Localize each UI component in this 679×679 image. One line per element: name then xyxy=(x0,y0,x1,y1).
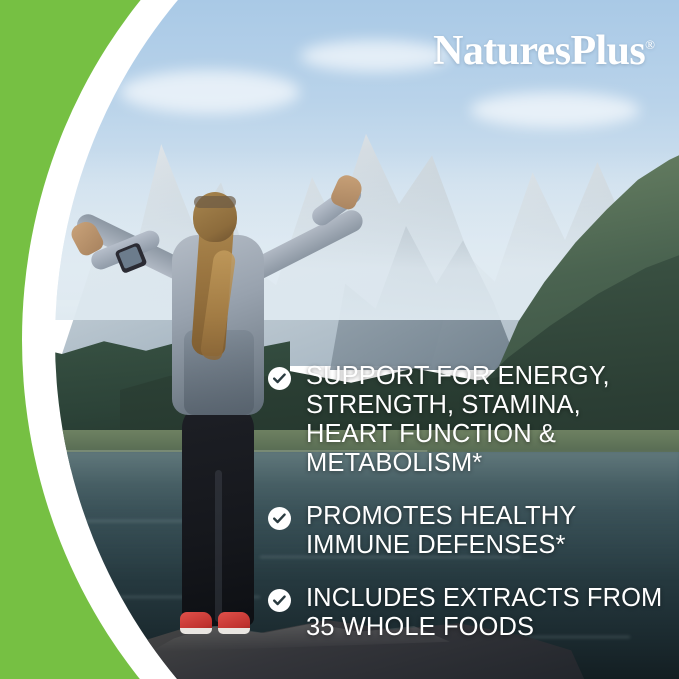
list-item: PROMOTES HEALTHY IMMUNE DEFENSES* xyxy=(268,502,668,560)
registered-trademark-icon: ® xyxy=(645,37,655,52)
list-item: SUPPORT FOR ENERGY, STRENGTH, STAMINA, H… xyxy=(268,362,668,478)
leg-separation xyxy=(215,470,222,622)
left-shoe-sole xyxy=(180,628,212,634)
brand-logo: NaturesPlus® xyxy=(433,30,655,72)
check-circle-icon xyxy=(268,367,291,390)
check-circle-icon xyxy=(268,589,291,612)
list-item: INCLUDES EXTRACTS FROM 35 WHOLE FOODS xyxy=(268,584,668,642)
benefit-text: SUPPORT FOR ENERGY, STRENGTH, STAMINA, H… xyxy=(306,362,668,478)
benefit-text: PROMOTES HEALTHY IMMUNE DEFENSES* xyxy=(306,502,668,560)
product-banner: NaturesPlus® SUPPORT FOR ENERGY, STRENGT… xyxy=(0,0,679,679)
check-circle-icon xyxy=(268,507,291,530)
benefits-list: SUPPORT FOR ENERGY, STRENGTH, STAMINA, H… xyxy=(268,362,668,642)
brand-logo-text: NaturesPlus xyxy=(433,28,645,74)
benefit-text: INCLUDES EXTRACTS FROM 35 WHOLE FOODS xyxy=(306,584,668,642)
hair-tie xyxy=(194,196,236,208)
right-shoe-sole xyxy=(218,628,250,634)
